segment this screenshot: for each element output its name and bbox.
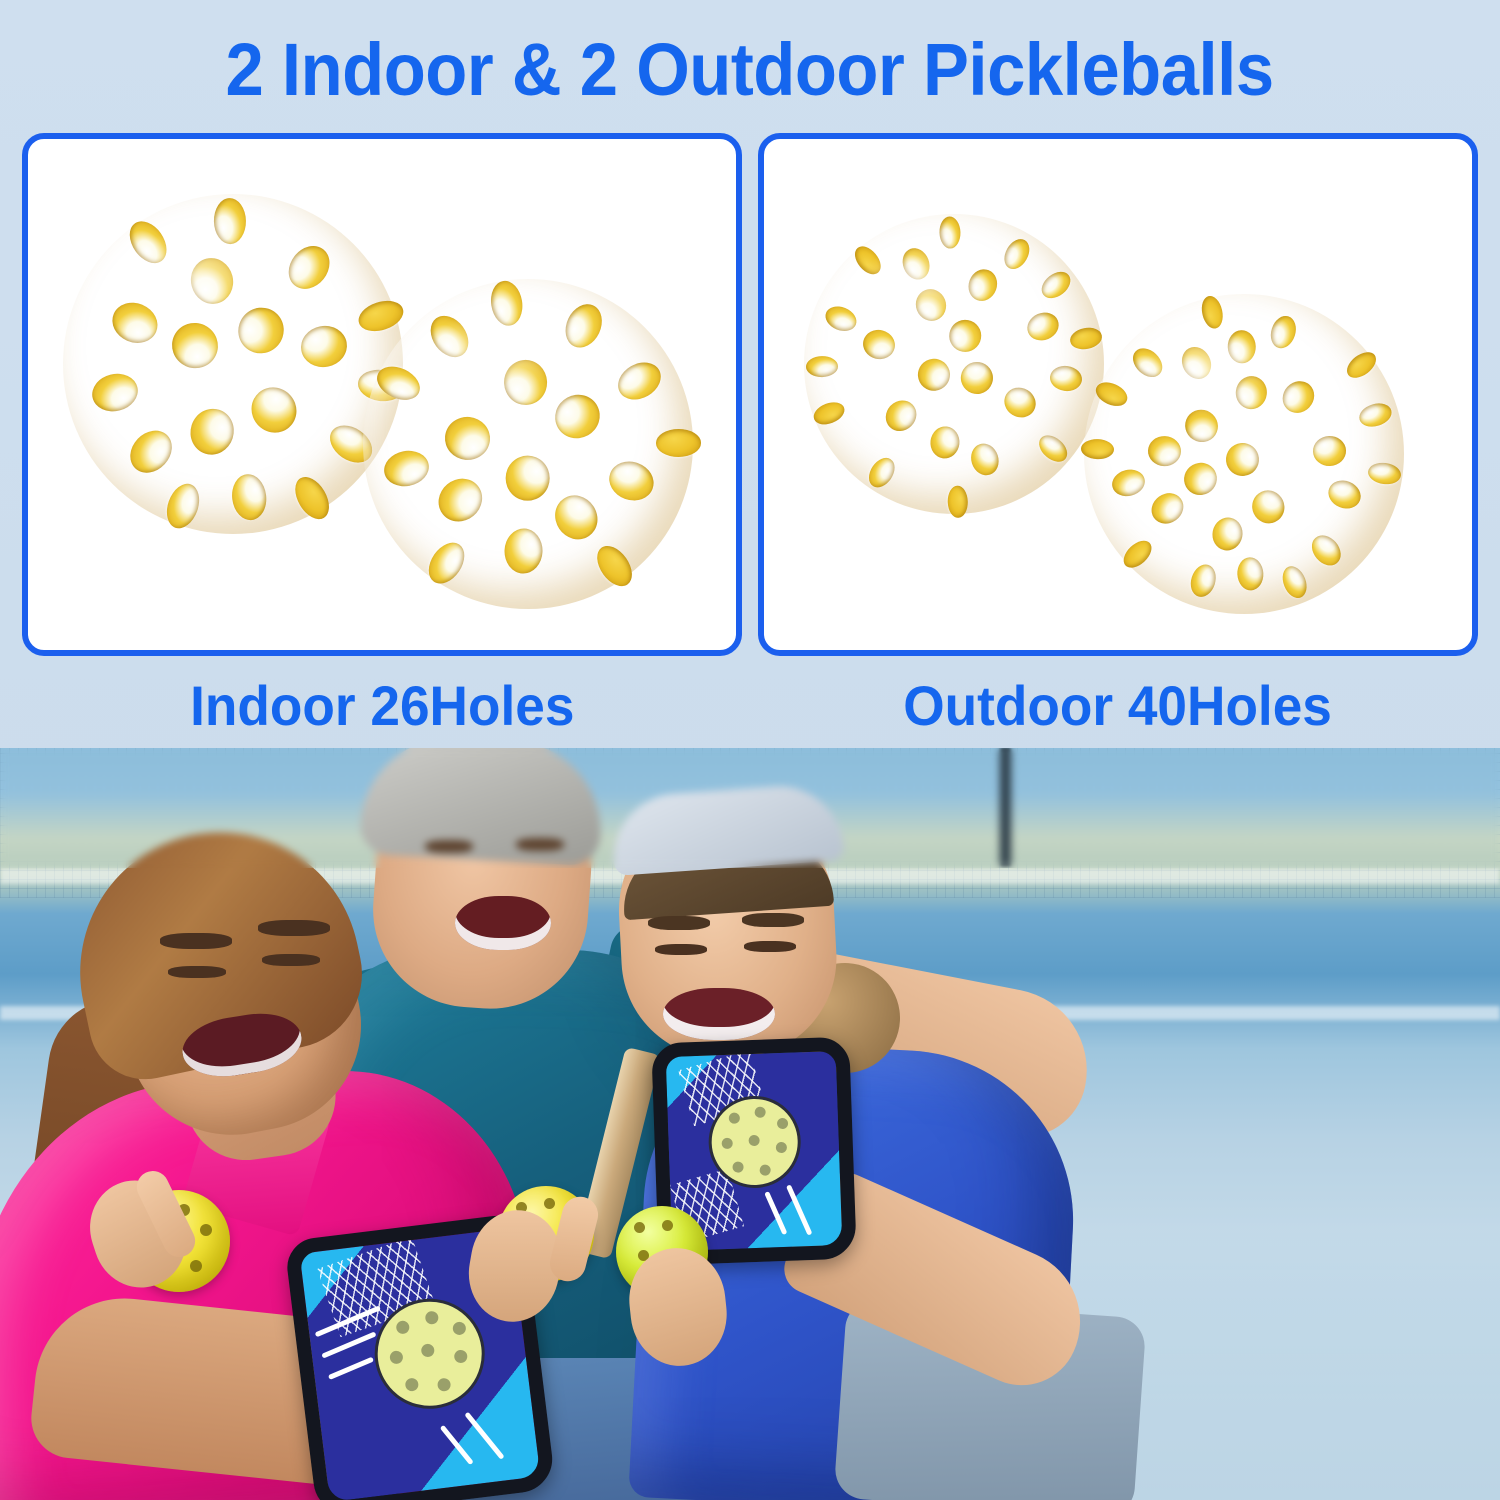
ball-hole xyxy=(186,254,238,309)
ball-hole xyxy=(967,440,1002,479)
ball-hole xyxy=(806,356,838,378)
ball-hole xyxy=(422,536,472,590)
ball-hole xyxy=(122,215,173,270)
outdoor-pickleball-left xyxy=(804,214,1104,514)
ball-hole xyxy=(504,527,544,574)
ball-hole xyxy=(381,447,432,490)
ball-hole xyxy=(1267,312,1300,351)
ball-hole xyxy=(229,298,293,362)
indoor-ball-stage xyxy=(28,139,736,650)
ball-hole xyxy=(161,479,205,532)
young-woman-left-brow xyxy=(648,916,710,930)
outdoor-label-cell: Outdoor 40Holes xyxy=(758,660,1478,750)
ball-hole xyxy=(1222,439,1263,480)
woman-left-eye xyxy=(168,966,226,978)
ball-hole xyxy=(1276,375,1321,420)
ball-hole xyxy=(864,453,900,492)
ball-hole xyxy=(443,415,492,462)
ball-hole xyxy=(1357,399,1395,430)
ball-hole xyxy=(242,378,305,442)
ball-hole xyxy=(1118,535,1156,572)
ball-hole xyxy=(810,398,847,429)
paddle-right-streak-1 xyxy=(786,1184,813,1235)
lifestyle-photo: Excellent Durability Perfect Bounce Mini… xyxy=(0,748,1500,1500)
ball-hole xyxy=(1023,308,1063,345)
ball-hole xyxy=(106,295,164,349)
ball-hole xyxy=(1036,266,1075,303)
paddle-left-streak-3 xyxy=(328,1357,374,1380)
ball-hole xyxy=(656,429,701,457)
ball-panels xyxy=(22,133,1478,656)
ball-hole xyxy=(611,355,667,407)
ball-hole xyxy=(506,456,551,501)
paddle-right-streak-2 xyxy=(764,1191,787,1235)
ball-hole xyxy=(1128,343,1168,383)
ball-hole xyxy=(1209,515,1245,553)
product-infographic: 2 Indoor & 2 Outdoor Pickleballs Indoor … xyxy=(0,0,1500,1500)
ball-hole xyxy=(297,323,350,372)
page-title: 2 Indoor & 2 Outdoor Pickleballs xyxy=(226,30,1274,110)
ball-hole xyxy=(850,242,886,280)
ball-hole xyxy=(1237,557,1264,591)
ball-hole xyxy=(912,353,955,396)
ball-hole xyxy=(1034,430,1072,467)
ball-hole xyxy=(1324,476,1365,514)
ball-hole xyxy=(1313,436,1347,467)
ball-hole xyxy=(1178,457,1222,501)
ball-hole xyxy=(999,235,1034,274)
ball-hole xyxy=(911,285,951,326)
ball-hole xyxy=(1176,341,1216,383)
young-woman-right-brow xyxy=(742,913,804,927)
young-woman-left-eye xyxy=(655,944,707,955)
ball-hole xyxy=(1109,466,1147,499)
ball-hole xyxy=(214,197,247,244)
ball-hole xyxy=(1234,375,1269,412)
ball-hole xyxy=(559,298,609,353)
ball-panel-labels: Indoor 26Holes Outdoor 40Holes xyxy=(22,660,1478,750)
paddle-left-streak-4 xyxy=(464,1412,504,1460)
ball-hole xyxy=(948,485,968,518)
ball-hole xyxy=(1146,487,1190,530)
ball-hole xyxy=(1179,404,1224,449)
ball-hole xyxy=(1048,364,1083,393)
ball-hole xyxy=(165,315,226,376)
indoor-pickleball-left xyxy=(63,194,403,534)
woman-left-brow xyxy=(160,933,232,949)
ball-hole xyxy=(1081,438,1115,459)
indoor-label-cell: Indoor 26Holes xyxy=(22,660,742,750)
ball-hole xyxy=(1342,347,1380,383)
indoor-ball-panel xyxy=(22,133,742,656)
ball-hole xyxy=(1279,563,1312,602)
ball-hole xyxy=(502,359,547,406)
ball-hole xyxy=(1227,330,1255,364)
ball-hole xyxy=(1068,325,1103,351)
ball-hole xyxy=(1093,378,1132,410)
title-bar: 2 Indoor & 2 Outdoor Pickleballs xyxy=(0,30,1500,110)
young-woman-right-eye xyxy=(744,941,796,952)
ball-hole xyxy=(1247,485,1289,528)
outdoor-label: Outdoor 40Holes xyxy=(904,673,1333,738)
paddle-left-streak-5 xyxy=(440,1425,474,1465)
ball-hole xyxy=(929,425,961,460)
outdoor-pickleball-right xyxy=(1084,294,1404,614)
ball-hole xyxy=(590,540,639,593)
ball-hole xyxy=(1199,294,1226,331)
ball-hole xyxy=(89,369,142,416)
woman-right-eye xyxy=(262,954,320,966)
woman-right-brow xyxy=(258,920,330,936)
ball-hole xyxy=(860,327,898,363)
ball-hole xyxy=(944,316,985,357)
ball-hole xyxy=(880,394,923,437)
ball-hole xyxy=(1367,460,1403,486)
ball-hole xyxy=(430,470,490,530)
ball-hole xyxy=(965,265,1003,305)
ball-hole xyxy=(998,382,1040,423)
ball-hole xyxy=(288,471,336,525)
man-mouth xyxy=(455,896,551,950)
ball-hole xyxy=(229,473,269,523)
ball-hole xyxy=(898,245,934,284)
ball-hole xyxy=(121,422,180,481)
paddle-left-streak-2 xyxy=(321,1331,376,1358)
ball-hole xyxy=(423,308,476,364)
indoor-pickleball-right xyxy=(363,279,693,609)
ball-hole xyxy=(548,387,608,447)
ball-hole xyxy=(1147,435,1181,466)
ball-hole xyxy=(1307,530,1347,571)
ball-hole xyxy=(604,456,659,507)
ball-hole xyxy=(281,238,338,297)
ball-hole xyxy=(355,296,407,337)
ball-hole xyxy=(955,356,999,400)
ball-hole xyxy=(488,279,525,328)
young-woman-mouth xyxy=(663,988,775,1040)
indoor-label: Indoor 26Holes xyxy=(190,673,574,738)
ball-hole xyxy=(821,301,859,335)
ball-hole xyxy=(184,403,239,460)
ball-hole xyxy=(547,487,606,547)
ball-hole xyxy=(1188,561,1220,600)
ball-hole xyxy=(939,216,961,249)
depth-of-field-overlay xyxy=(0,748,1500,868)
outdoor-ball-stage xyxy=(764,139,1472,650)
outdoor-ball-panel xyxy=(758,133,1478,656)
